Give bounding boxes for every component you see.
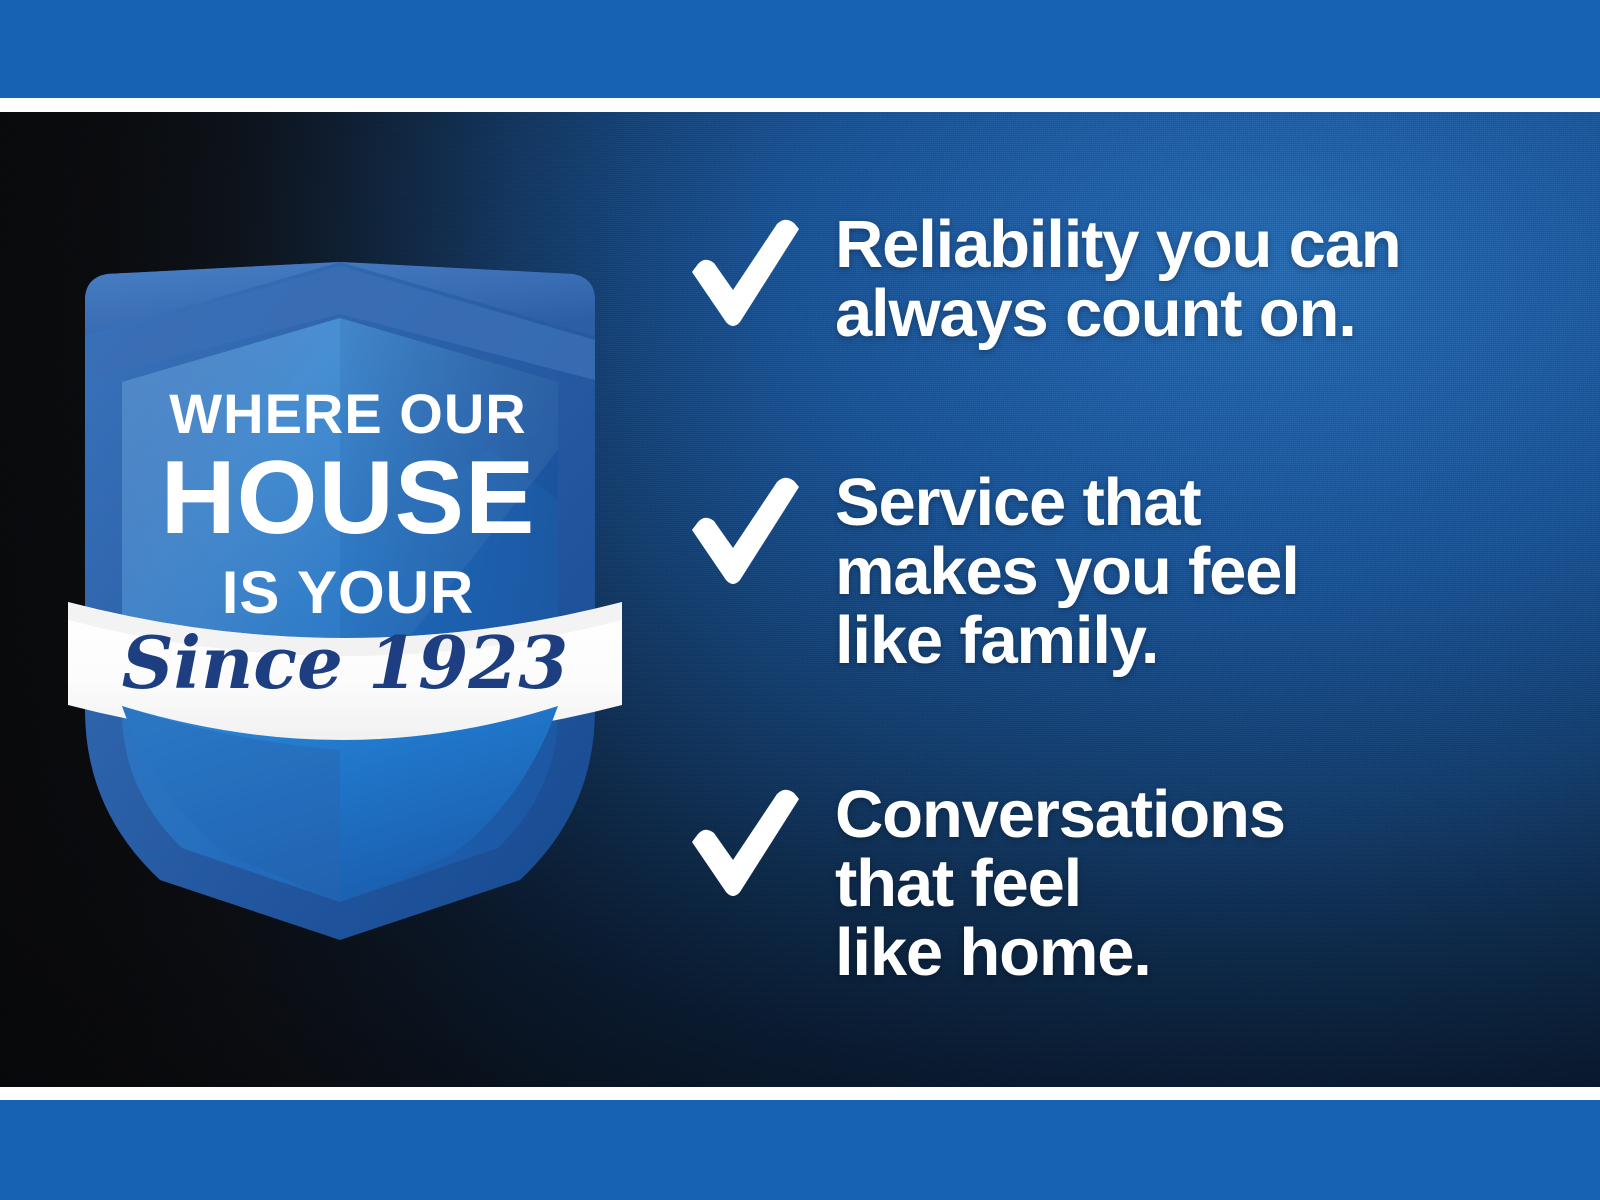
list-item-text: Conversations that feel like home.	[835, 780, 1535, 987]
badge-line-0: WHERE OUR	[169, 382, 526, 445]
text-line: Conversations	[835, 780, 1535, 849]
text-line: Reliability you can	[835, 210, 1535, 279]
badge-line-2: IS YOUR	[222, 559, 475, 626]
bottom-brand-bar	[0, 1100, 1600, 1200]
text-line: makes you feel	[835, 537, 1535, 606]
text-line: that feel	[835, 849, 1535, 918]
promo-graphic: WHERE OUR HOUSE IS YOUR HOUSE Since 1923	[0, 0, 1600, 1200]
badge-ribbon-text: Since 1923	[122, 620, 569, 705]
text-line: like home.	[835, 918, 1535, 987]
list-item-text: Service that makes you feel like family.	[835, 468, 1535, 675]
text-line: Service that	[835, 468, 1535, 537]
checkmark-icon	[678, 788, 806, 900]
text-line: like family.	[835, 606, 1535, 675]
checkmark-icon	[678, 218, 806, 330]
top-brand-bar	[0, 0, 1600, 98]
shield-badge: WHERE OUR HOUSE IS YOUR HOUSE Since 1923	[60, 150, 630, 950]
checkmark-icon	[678, 476, 806, 588]
text-line: always count on.	[835, 279, 1535, 348]
badge-line-1: HOUSE	[161, 440, 536, 556]
list-item-text: Reliability you can always count on.	[835, 210, 1535, 348]
